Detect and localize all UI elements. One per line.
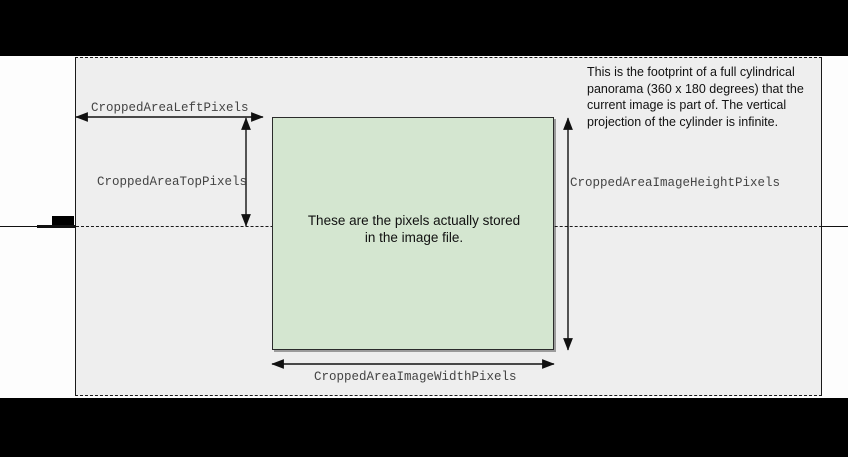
label-cropped-area-image-height-pixels: CroppedAreaImageHeightPixels — [570, 176, 780, 190]
horizon-marker-block — [52, 216, 74, 225]
label-cropped-area-image-width-pixels: CroppedAreaImageWidthPixels — [314, 370, 517, 384]
panorama-description-text: This is the footprint of a full cylindri… — [587, 64, 829, 130]
label-cropped-area-top-pixels: CroppedAreaTopPixels — [97, 175, 247, 189]
cropped-area-caption: These are the pixels actually stored in … — [273, 212, 555, 246]
letterbox-band-top — [0, 0, 848, 56]
cropped-area-caption-line-2: in the image file. — [273, 229, 555, 246]
letterbox-band-bottom — [0, 398, 848, 457]
diagram-canvas: These are the pixels actually stored in … — [0, 0, 848, 457]
horizon-line-left-thick — [37, 225, 76, 228]
label-cropped-area-left-pixels: CroppedAreaLeftPixels — [91, 101, 249, 115]
cropped-area-caption-line-1: These are the pixels actually stored — [273, 212, 555, 229]
horizon-line-right — [822, 226, 848, 227]
cropped-area-box: These are the pixels actually stored in … — [272, 117, 554, 350]
